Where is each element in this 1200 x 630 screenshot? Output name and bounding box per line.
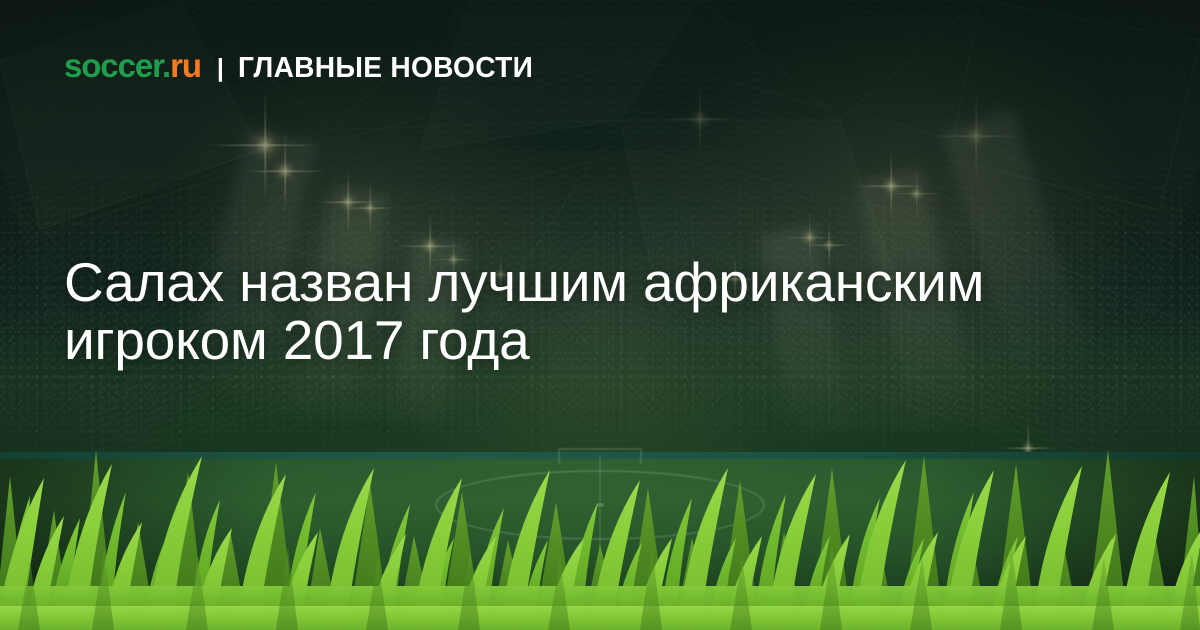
logo-tld: ru xyxy=(170,47,201,84)
article-headline: Салах назван лучшим африканским игроком … xyxy=(64,253,1124,370)
social-share-card: soccer.ru | ГЛАВНЫЕ НОВОСТИ Салах назван… xyxy=(0,0,1200,630)
site-logo[interactable]: soccer.ru xyxy=(64,49,201,82)
headline-line-1: Салах назван лучшим африканским xyxy=(64,253,1124,311)
logo-dot: . xyxy=(162,47,170,84)
headline-line-2: игроком 2017 года xyxy=(64,311,1124,369)
logo-name: soccer xyxy=(64,47,162,84)
header-separator: | xyxy=(217,56,224,81)
header-section-label: ГЛАВНЫЕ НОВОСТИ xyxy=(238,54,533,83)
grass-foreground xyxy=(0,380,1200,630)
header: soccer.ru | ГЛАВНЫЕ НОВОСТИ xyxy=(64,49,542,83)
